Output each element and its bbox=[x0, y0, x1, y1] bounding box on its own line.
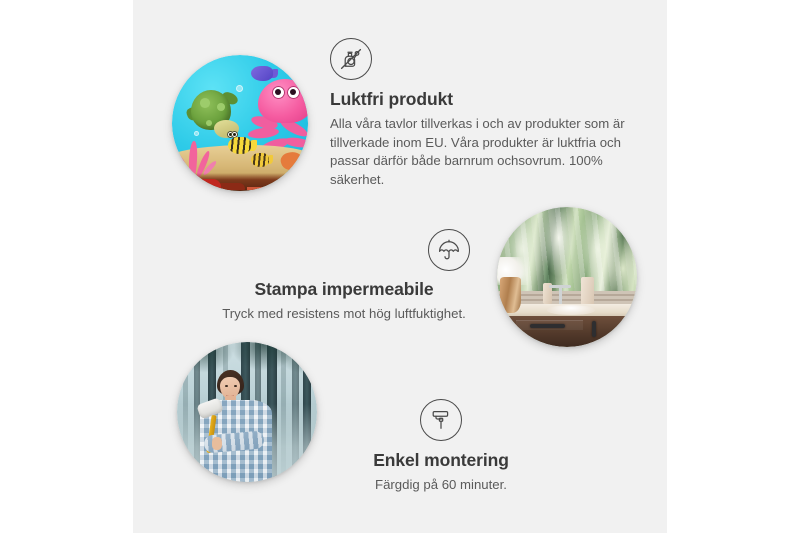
fish-body bbox=[251, 153, 269, 167]
photo-painter-forest bbox=[177, 342, 317, 482]
paint-roller-icon bbox=[420, 399, 462, 441]
soap-dispenser bbox=[581, 277, 594, 306]
umbrella-icon bbox=[428, 229, 470, 271]
octopus-eye bbox=[272, 86, 285, 99]
photo-sea-inner bbox=[172, 55, 308, 191]
octopus-head bbox=[258, 79, 308, 123]
feature-waterproof-description: Tryck med resistens mot hög luftfuktighe… bbox=[218, 305, 470, 324]
photo-painter-inner bbox=[177, 342, 317, 482]
person-eye bbox=[225, 385, 228, 387]
feature-odorless-title: Luktfri produkt bbox=[330, 89, 630, 110]
painter-person bbox=[197, 370, 275, 482]
person-hand bbox=[212, 437, 221, 449]
feature-waterproof-title: Stampa impermeabile bbox=[218, 279, 470, 300]
sink-basin bbox=[547, 305, 595, 315]
octopus-eye bbox=[287, 86, 300, 99]
wooden-vanity-cabinet bbox=[508, 316, 637, 347]
feature-mounting-description: Färgdig på 60 minuter. bbox=[326, 476, 556, 495]
drawer-handle bbox=[530, 324, 565, 328]
feature-odorless-description: Alla våra tavlor tillverkas i och av pro… bbox=[330, 115, 630, 190]
photo-bathroom bbox=[497, 207, 637, 347]
fish-body bbox=[228, 137, 251, 155]
vase bbox=[500, 277, 521, 313]
coral bbox=[175, 133, 224, 179]
fish-yellow bbox=[228, 137, 251, 155]
photo-sea bbox=[172, 55, 308, 191]
feature-waterproof: Stampa impermeabile Tryck med resistens … bbox=[218, 229, 470, 324]
feature-mounting: Enkel montering Färgdig på 60 minuter. bbox=[326, 399, 556, 495]
photo-bathroom-inner bbox=[497, 207, 637, 347]
sea-foreground-strip bbox=[172, 173, 308, 191]
no-fragrance-icon bbox=[330, 38, 372, 80]
feature-mounting-title: Enkel montering bbox=[326, 450, 556, 471]
octopus-tentacle bbox=[248, 127, 280, 140]
fish-yellow-small bbox=[251, 153, 269, 167]
feature-odorless: Luktfri produkt Alla våra tavlor tillver… bbox=[330, 38, 630, 190]
person-eye bbox=[234, 385, 237, 387]
cabinet-handle bbox=[592, 321, 596, 338]
screenshot-root: Luktfri produkt Alla våra tavlor tillver… bbox=[0, 0, 800, 533]
